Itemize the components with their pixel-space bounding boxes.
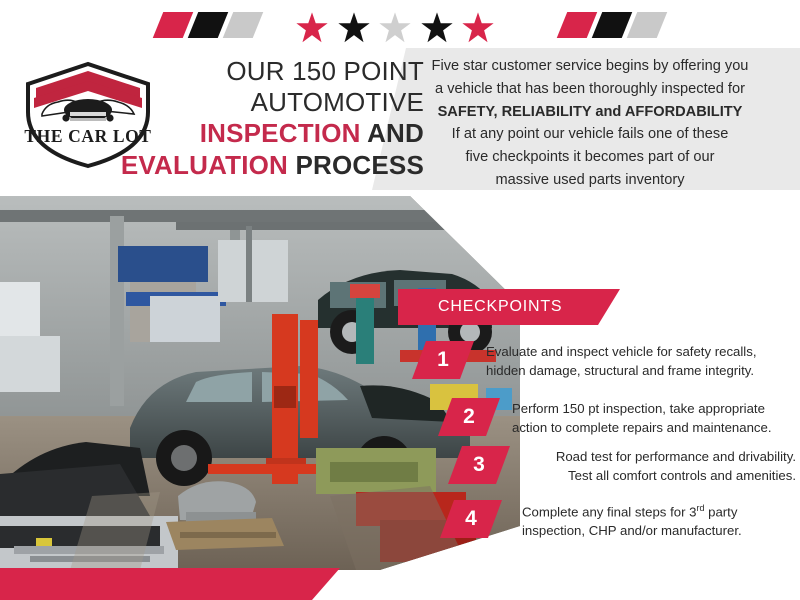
stripe-red-icon: [557, 12, 598, 38]
checkpoint-badge-1: 1: [412, 341, 474, 379]
checkpoint-number-1: 1: [437, 348, 449, 372]
checkpoint-4-line-1: Complete any final steps for 3rd party: [522, 502, 796, 522]
checkpoint-item-3: 3 Road test for performance and drivabil…: [448, 446, 796, 485]
page-title: OUR 150 POINT AUTOMOTIVE INSPECTION AND …: [12, 56, 424, 181]
checkpoints-banner-label: CHECKPOINTS: [438, 298, 562, 316]
quote-line-3-emphasis: SAFETY, RELIABILITY and AFFORDABILITY: [392, 101, 788, 124]
stripe-red-icon: [153, 12, 194, 38]
stripe-gray-icon: [627, 12, 668, 38]
checkpoint-text-4: Complete any final steps for 3rd party i…: [522, 500, 796, 541]
checkpoint-number-4: 4: [465, 507, 477, 531]
five-star-rating: [295, 8, 495, 48]
quote-line-5: five checkpoints it becomes part of our: [392, 146, 788, 169]
quote-text-block: Five star customer service begins by off…: [392, 55, 788, 192]
decorative-stripes-left: [158, 12, 258, 38]
checkpoint-item-2: 2 Perform 150 pt inspection, take approp…: [438, 398, 796, 437]
headline-line-1: OUR 150 POINT: [12, 56, 424, 87]
headline-line-4: EVALUATION PROCESS: [12, 150, 424, 181]
decorative-stripes-right: [562, 12, 662, 38]
checkpoint-4-line-1-post: party: [704, 504, 737, 519]
checkpoints-banner: CHECKPOINTS: [398, 289, 620, 325]
stripe-black-icon: [592, 12, 633, 38]
star-icon-5: [461, 11, 495, 45]
checkpoint-2-line-1: Perform 150 pt inspection, take appropri…: [512, 400, 796, 419]
checkpoint-3-line-1: Road test for performance and drivabilit…: [520, 448, 796, 467]
checkpoint-number-2: 2: [463, 405, 475, 429]
checkpoint-2-line-2: action to complete repairs and maintenan…: [512, 419, 796, 438]
quote-line-6: massive used parts inventory: [392, 169, 788, 192]
checkpoint-item-4: 4 Complete any final steps for 3rd party…: [440, 500, 796, 541]
star-icon-1: [295, 11, 329, 45]
infographic-poster: THE CAR LOT OUR 150 POINT AUTOMOTIVE INS…: [0, 0, 800, 600]
bottom-accent-bar: [0, 568, 340, 600]
checkpoint-4-line-1-pre: Complete any final steps for 3: [522, 504, 696, 519]
headline-line-2: AUTOMOTIVE: [12, 87, 424, 118]
star-icon-2: [337, 11, 371, 45]
checkpoint-text-1: Evaluate and inspect vehicle for safety …: [486, 341, 786, 380]
checkpoint-number-3: 3: [473, 453, 485, 477]
headline-accent-inspection: INSPECTION: [200, 118, 361, 148]
checkpoint-4-line-2: inspection, CHP and/or manufacturer.: [522, 522, 796, 541]
headline-accent-evaluation: EVALUATION: [121, 150, 288, 180]
star-icon-3: [378, 11, 412, 45]
checkpoint-text-2: Perform 150 pt inspection, take appropri…: [512, 398, 796, 437]
checkpoint-text-3: Road test for performance and drivabilit…: [520, 446, 796, 485]
headline-line-3: INSPECTION AND: [12, 118, 424, 149]
checkpoint-item-1: 1 Evaluate and inspect vehicle for safet…: [412, 341, 796, 380]
quote-line-4: If at any point our vehicle fails one of…: [392, 123, 788, 146]
stripe-gray-icon: [223, 12, 264, 38]
checkpoint-badge-4: 4: [440, 500, 502, 538]
quote-line-2: a vehicle that has been thoroughly inspe…: [392, 78, 788, 101]
star-icon-4: [420, 11, 454, 45]
checkpoint-3-line-2: Test all comfort controls and amenities.: [520, 467, 796, 486]
checkpoint-badge-3: 3: [448, 446, 510, 484]
checkpoint-1-line-2: hidden damage, structural and frame inte…: [486, 362, 786, 381]
checkpoint-1-line-1: Evaluate and inspect vehicle for safety …: [486, 343, 786, 362]
stripe-black-icon: [188, 12, 229, 38]
quote-line-1: Five star customer service begins by off…: [392, 55, 788, 78]
checkpoint-badge-2: 2: [438, 398, 500, 436]
